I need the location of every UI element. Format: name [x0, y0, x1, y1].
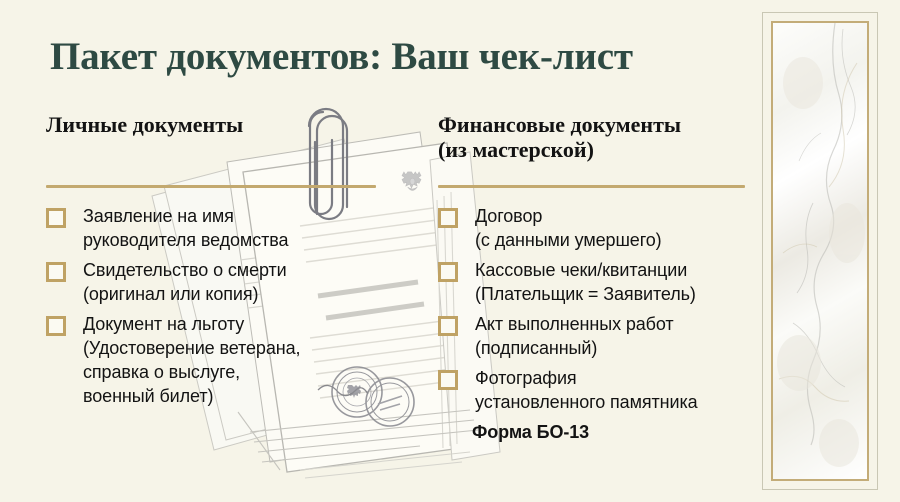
list-item[interactable]: Заявление на имя руководителя ведомства — [46, 204, 386, 252]
left-column-divider — [46, 185, 376, 188]
coat-of-arms-emblem-icon — [402, 172, 421, 191]
right-column: Финансовые документы (из мастерской) Дог… — [438, 112, 748, 444]
marble-texture — [771, 21, 869, 481]
checkbox-icon[interactable] — [46, 316, 66, 336]
list-item[interactable]: Фотография установленного памятника — [438, 366, 748, 414]
list-item-label: Фотография установленного памятника — [475, 366, 698, 414]
list-item[interactable]: Документ на льготу (Удостоверение ветера… — [46, 312, 386, 408]
page-title: Пакет документов: Ваш чек-лист — [50, 34, 633, 79]
checkbox-icon[interactable] — [438, 208, 458, 228]
left-checklist: Заявление на имя руководителя ведомства … — [46, 204, 386, 408]
right-checklist: Договор (с данными умершего) Кассовые че… — [438, 204, 748, 414]
list-item-label: Акт выполненных работ (подписанный) — [475, 312, 674, 360]
list-item-label: Кассовые чеки/квитанции (Плательщик = За… — [475, 258, 696, 306]
checkbox-icon[interactable] — [438, 262, 458, 282]
checkbox-icon[interactable] — [46, 262, 66, 282]
checkbox-icon[interactable] — [438, 316, 458, 336]
list-item[interactable]: Свидетельство о смерти (оригинал или коп… — [46, 258, 386, 306]
left-column-heading: Личные документы — [46, 112, 386, 137]
list-item[interactable]: Акт выполненных работ (подписанный) — [438, 312, 748, 360]
left-column: Личные документы Заявление на имя руково… — [46, 112, 386, 414]
checkbox-icon[interactable] — [46, 208, 66, 228]
right-column-divider — [438, 185, 745, 188]
list-item-label: Заявление на имя руководителя ведомства — [83, 204, 288, 252]
list-item[interactable]: Кассовые чеки/квитанции (Плательщик = За… — [438, 258, 748, 306]
right-column-heading: Финансовые документы (из мастерской) — [438, 112, 748, 162]
list-item-label: Договор (с данными умершего) — [475, 204, 662, 252]
slide-canvas: Пакет документов: Ваш чек-лист Личные до… — [0, 0, 900, 502]
list-item-label: Свидетельство о смерти (оригинал или коп… — [83, 258, 287, 306]
form-note: Форма БО-13 — [472, 420, 748, 444]
checkbox-icon[interactable] — [438, 370, 458, 390]
list-item-label: Документ на льготу (Удостоверение ветера… — [83, 312, 300, 408]
list-item[interactable]: Договор (с данными умершего) — [438, 204, 748, 252]
marble-texture-panel — [762, 12, 878, 490]
